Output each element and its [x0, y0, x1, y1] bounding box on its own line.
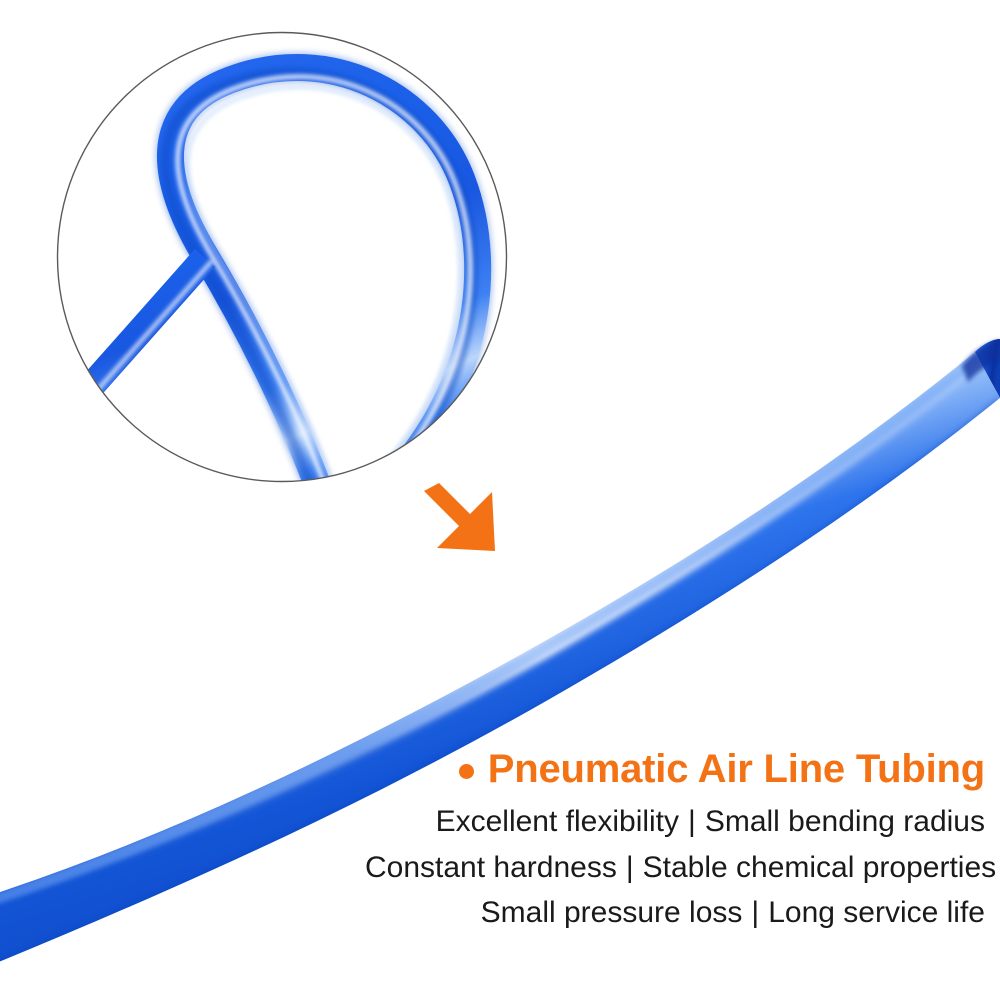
- magnified-tube-loop: [0, 67, 478, 525]
- feature-2-right: Stable chemical properties: [643, 851, 997, 884]
- magnifier-callout: [0, 33, 507, 526]
- bullet-dot-icon: [459, 764, 474, 779]
- feature-3-right: Long service life: [768, 896, 985, 929]
- feature-2-left: Constant hardness: [365, 851, 617, 884]
- headline-row: Pneumatic Air Line Tubing: [365, 748, 985, 791]
- marketing-copy: Pneumatic Air Line Tubing Excellent flex…: [365, 748, 985, 936]
- page-title: Pneumatic Air Line Tubing: [488, 748, 985, 791]
- feature-line-3: Small pressure loss|Long service life: [365, 890, 985, 936]
- feature-line-2: Constant hardness|Stable chemical proper…: [365, 845, 985, 891]
- feature-1-right: Small bending radius: [705, 805, 985, 838]
- orange-arrow: [424, 483, 495, 551]
- feature-separator: |: [742, 890, 768, 936]
- feature-3-left: Small pressure loss: [481, 896, 743, 929]
- feature-1-left: Excellent flexibility: [436, 805, 679, 838]
- feature-separator: |: [617, 845, 643, 891]
- product-marketing-image: Pneumatic Air Line Tubing Excellent flex…: [0, 0, 1000, 1000]
- feature-line-1: Excellent flexibility|Small bending radi…: [365, 799, 985, 845]
- feature-separator: |: [679, 799, 705, 845]
